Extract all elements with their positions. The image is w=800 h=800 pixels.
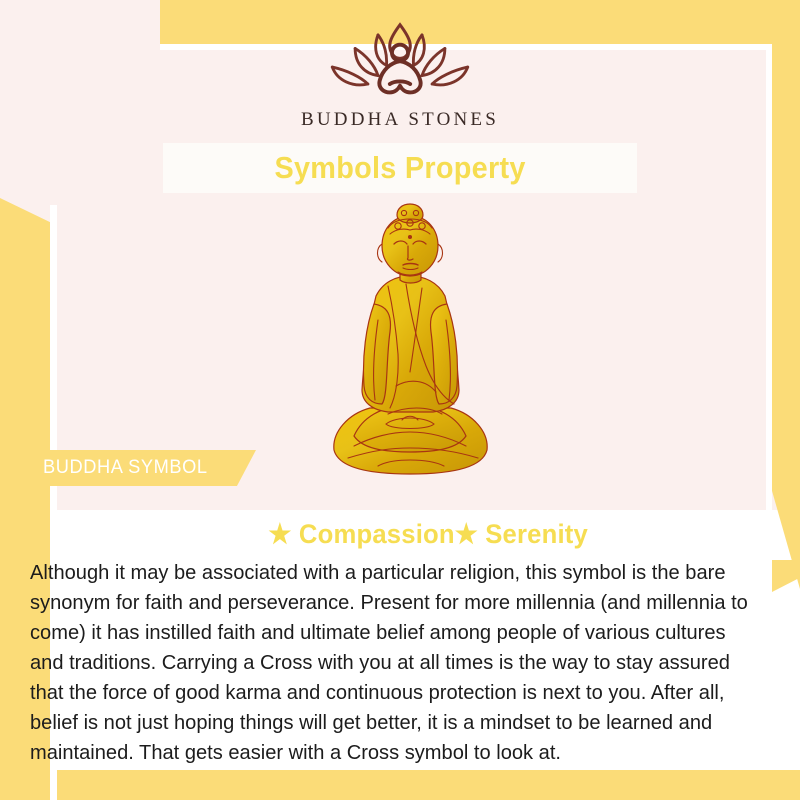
seated-buddha-icon [318, 200, 503, 485]
symbol-keywords: ★ Compassion★ Serenity [269, 519, 589, 550]
brand-logo: BUDDHA STONES [0, 18, 800, 131]
frame-accent-bottom [0, 770, 800, 800]
symbol-category-label: BUDDHA SYMBOL [22, 457, 208, 479]
keywords-row: ★ Compassion★ Serenity [57, 513, 800, 555]
symbol-description: Although it may be associated with a par… [30, 558, 759, 768]
symbol-category-ribbon: BUDDHA SYMBOL [18, 450, 256, 486]
lotus-meditation-icon [315, 18, 485, 106]
page-title: Symbols Property [274, 150, 525, 186]
brand-wordmark: BUDDHA STONES [301, 109, 499, 131]
title-band: Symbols Property [163, 143, 637, 193]
